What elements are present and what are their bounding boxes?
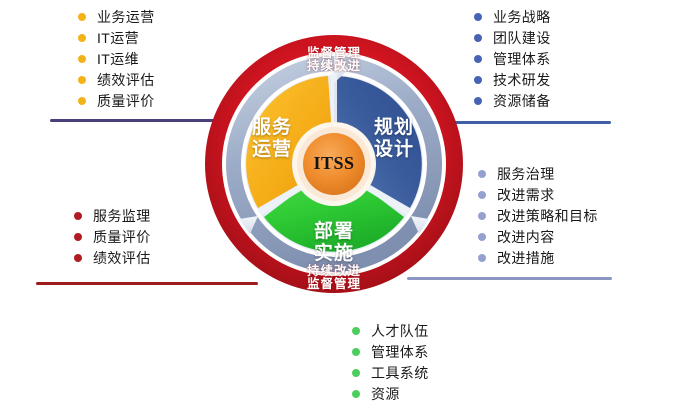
- bullet-icon: [474, 76, 482, 84]
- bullet-icon: [478, 212, 486, 220]
- list-item-label: 业务运营: [97, 10, 155, 24]
- list-item-label: 服务治理: [497, 167, 555, 181]
- itss-wheel: 监督管理 持续改进 持续改进 监督管理 服务 运营 规划 设计 部署 实施 IT…: [203, 33, 465, 295]
- bullet-icon: [74, 233, 82, 241]
- list-item: IT运营: [78, 27, 155, 48]
- list-item-label: 管理体系: [371, 345, 429, 359]
- list-item-label: 改进需求: [497, 188, 555, 202]
- list-item-label: 工具系统: [371, 366, 429, 380]
- list-item: 改进措施: [478, 247, 598, 268]
- list-item: 工具系统: [352, 362, 429, 383]
- list-item: IT运维: [78, 48, 155, 69]
- bullet-icon: [352, 327, 360, 335]
- list-item: 服务治理: [478, 163, 598, 184]
- diagram-canvas: 业务运营 IT运营 IT运维 绩效评估 质量评价 业务战略 团队建设: [0, 0, 673, 411]
- bullet-icon: [478, 170, 486, 178]
- list-item-label: 团队建设: [493, 31, 551, 45]
- bullet-icon: [474, 97, 482, 105]
- list-item: 团队建设: [474, 27, 551, 48]
- list-item: 改进内容: [478, 226, 598, 247]
- list-item: 服务监理: [74, 205, 151, 226]
- list-item-label: 质量评价: [93, 230, 151, 244]
- bullet-icon: [352, 390, 360, 398]
- list-top-right: 业务战略 团队建设 管理体系 技术研发 资源储备: [474, 6, 551, 111]
- bullet-icon: [474, 13, 482, 21]
- list-middle-left: 服务监理 质量评价 绩效评估: [74, 205, 151, 268]
- list-bottom: 人才队伍 管理体系 工具系统 资源: [352, 320, 429, 404]
- list-item: 管理体系: [474, 48, 551, 69]
- bullet-icon: [478, 191, 486, 199]
- list-item: 技术研发: [474, 69, 551, 90]
- list-item-label: 改进策略和目标: [497, 209, 598, 223]
- bullet-icon: [352, 348, 360, 356]
- wheel-graphic: [203, 33, 465, 295]
- list-item: 资源: [352, 383, 429, 404]
- list-item-label: IT运维: [97, 52, 139, 66]
- hub-core: [303, 133, 365, 195]
- bullet-icon: [474, 34, 482, 42]
- list-item: 资源储备: [474, 90, 551, 111]
- bullet-icon: [78, 97, 86, 105]
- list-item: 质量评价: [74, 226, 151, 247]
- bullet-icon: [78, 13, 86, 21]
- list-item-label: 人才队伍: [371, 324, 429, 338]
- bullet-icon: [78, 55, 86, 63]
- list-item-label: 绩效评估: [93, 251, 151, 265]
- list-item-label: IT运营: [97, 31, 139, 45]
- list-item-label: 服务监理: [93, 209, 151, 223]
- list-item: 绩效评估: [78, 69, 155, 90]
- bullet-icon: [78, 76, 86, 84]
- list-item-label: 业务战略: [493, 10, 551, 24]
- bullet-icon: [78, 34, 86, 42]
- bullet-icon: [478, 254, 486, 262]
- list-item: 绩效评估: [74, 247, 151, 268]
- list-item-label: 资源: [371, 387, 400, 401]
- bullet-icon: [352, 369, 360, 377]
- list-item: 业务运营: [78, 6, 155, 27]
- list-top-left: 业务运营 IT运营 IT运维 绩效评估 质量评价: [78, 6, 155, 111]
- list-item-label: 管理体系: [493, 52, 551, 66]
- list-item-label: 技术研发: [493, 73, 551, 87]
- bullet-icon: [74, 254, 82, 262]
- list-item-label: 资源储备: [493, 94, 551, 108]
- bullet-icon: [74, 212, 82, 220]
- list-item-label: 质量评价: [97, 94, 155, 108]
- bullet-icon: [474, 55, 482, 63]
- list-middle-right: 服务治理 改进需求 改进策略和目标 改进内容 改进措施: [478, 163, 598, 268]
- list-item: 改进需求: [478, 184, 598, 205]
- list-item-label: 改进内容: [497, 230, 555, 244]
- list-item: 人才队伍: [352, 320, 429, 341]
- list-item-label: 绩效评估: [97, 73, 155, 87]
- bullet-icon: [478, 233, 486, 241]
- list-item: 质量评价: [78, 90, 155, 111]
- list-item: 业务战略: [474, 6, 551, 27]
- list-item-label: 改进措施: [497, 251, 555, 265]
- list-item: 管理体系: [352, 341, 429, 362]
- list-item: 改进策略和目标: [478, 205, 598, 226]
